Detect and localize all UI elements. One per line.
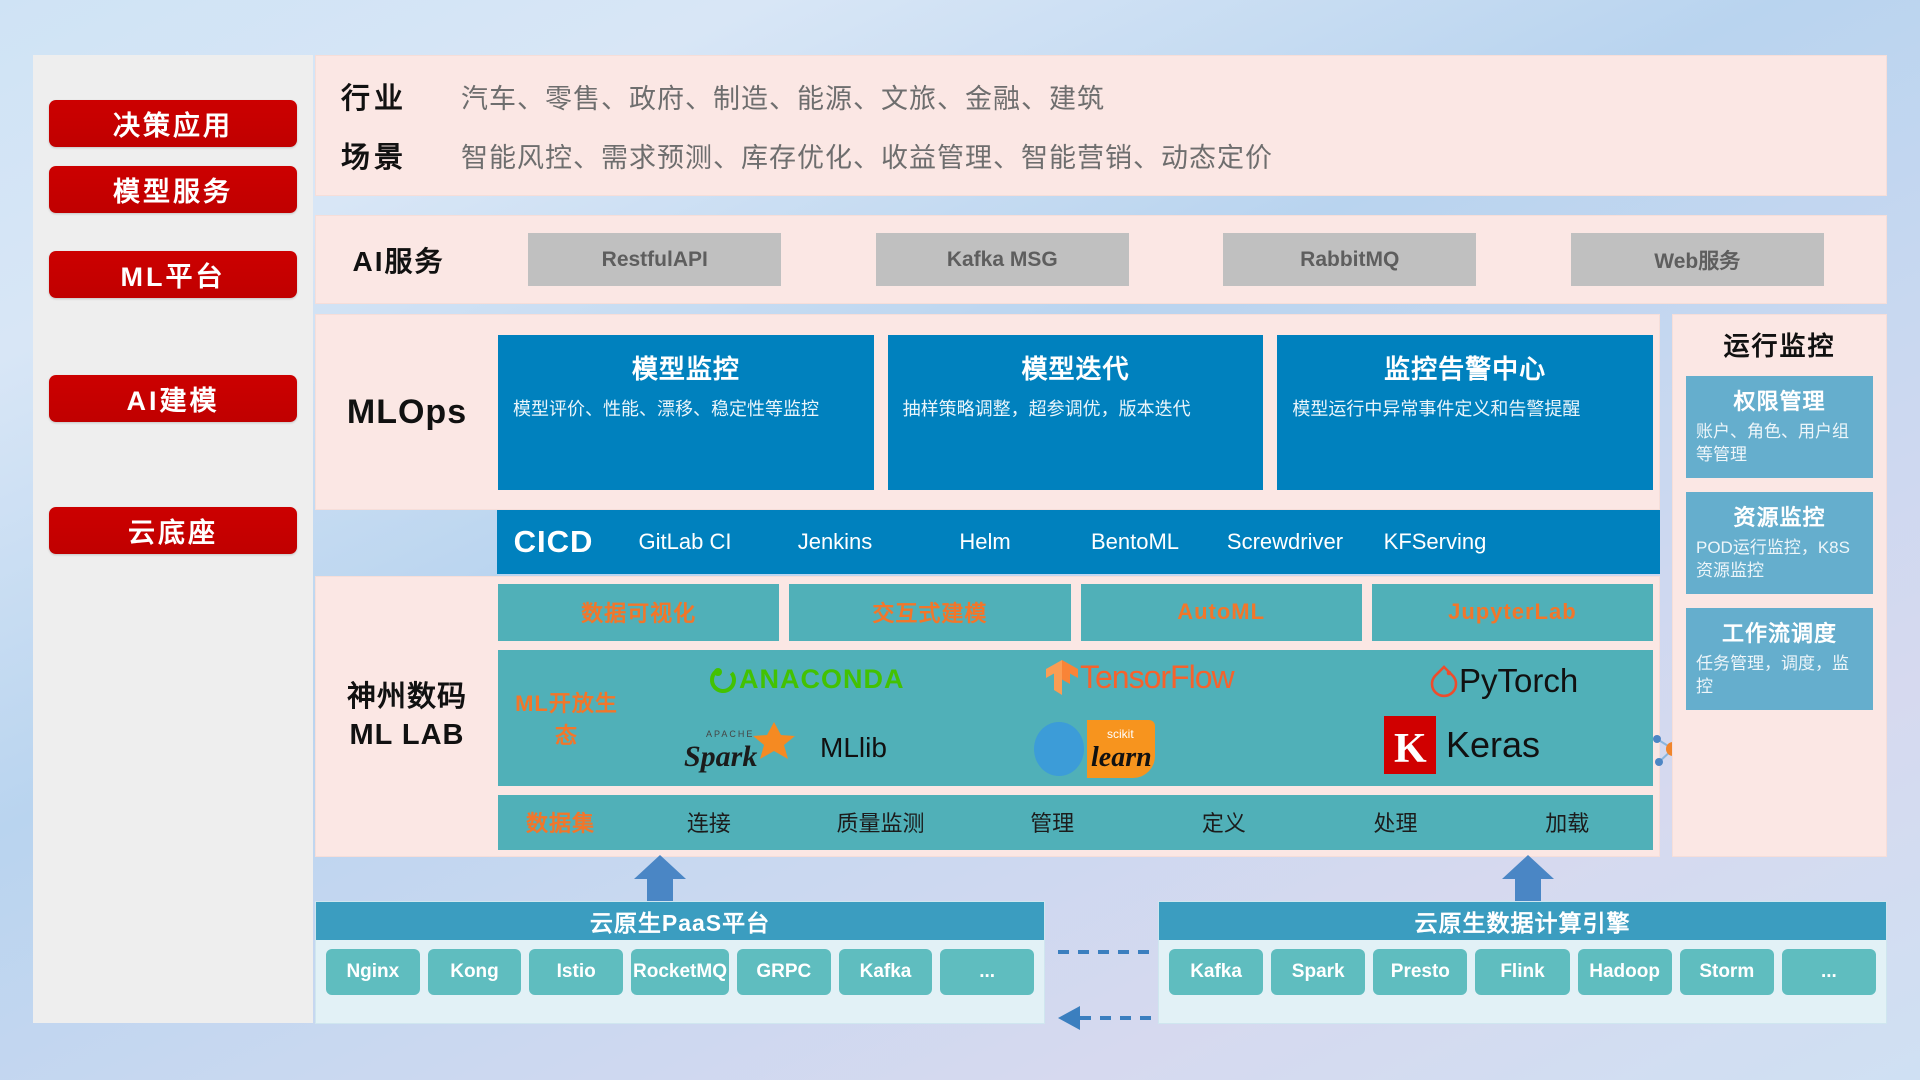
dataset-item-define[interactable]: 定义 — [1138, 806, 1310, 838]
compute-engine-title: 云原生数据计算引擎 — [1159, 902, 1886, 940]
dataset-item-process[interactable]: 处理 — [1310, 806, 1482, 838]
ml-ecosystem-logos: ANACONDA TensorFlow — [629, 650, 1647, 786]
industry-label-column: 行业 场景 — [341, 67, 461, 185]
industry-label: 行业 — [341, 67, 461, 126]
keras-icon: K — [1384, 716, 1436, 774]
dataset-item-quality-monitor[interactable]: 质量监测 — [795, 806, 967, 838]
dataset-item-load[interactable]: 加载 — [1481, 806, 1653, 838]
ai-service-chip-rabbitmq[interactable]: RabbitMQ — [1223, 233, 1476, 286]
monitoring-card-permission[interactable]: 权限管理 账户、角色、用户组等管理 — [1686, 376, 1873, 478]
compute-chip-spark[interactable]: Spark — [1271, 949, 1365, 995]
sidebar-item-ml-platform[interactable]: ML平台 — [49, 251, 297, 298]
ai-service-items: RestfulAPI Kafka MSG RabbitMQ Web服务 — [481, 233, 1886, 286]
paas-platform-title: 云原生PaaS平台 — [316, 902, 1044, 940]
ml-lab-title-line2: ML LAB — [316, 717, 498, 755]
runtime-monitoring-title: 运行监控 — [1686, 326, 1873, 363]
industry-values: 汽车、零售、政府、制造、能源、文旅、金融、建筑 — [461, 67, 1886, 126]
tensorflow-logo: TensorFlow — [1044, 658, 1234, 698]
ai-service-chip-kafka-msg[interactable]: Kafka MSG — [876, 233, 1129, 286]
sidebar-item-label: 模型服务 — [113, 170, 233, 209]
compute-chip-presto[interactable]: Presto — [1373, 949, 1467, 995]
monitoring-card-workflow[interactable]: 工作流调度 任务管理，调度，监控 — [1686, 608, 1873, 710]
cicd-item-screwdriver[interactable]: Screwdriver — [1210, 530, 1360, 553]
dataset-label: 数据集 — [498, 806, 623, 838]
mlops-card-title: 模型监控 — [513, 349, 859, 386]
sidebar-item-label: 云底座 — [128, 511, 218, 550]
paas-chip-grpc[interactable]: GRPC — [737, 949, 831, 995]
ml-ecosystem-row: ML开放生态 ANACONDA — [498, 650, 1653, 786]
ml-lab-body: 数据可视化 交互式建模 AutoML JupyterLab ML开放生态 ANA… — [498, 584, 1659, 850]
mlops-card-title: 模型迭代 — [903, 349, 1249, 386]
dataset-item-manage[interactable]: 管理 — [966, 806, 1138, 838]
sidebar-item-ai-modeling[interactable]: AI建模 — [49, 375, 297, 422]
tensorflow-icon — [1044, 658, 1080, 698]
mlops-title: MLOps — [316, 393, 498, 432]
monitoring-card-desc: 账户、角色、用户组等管理 — [1696, 421, 1863, 467]
anaconda-icon — [707, 664, 739, 696]
mlops-panel: MLOps 模型监控 模型评价、性能、漂移、稳定性等监控 模型迭代 抽样策略调整… — [315, 314, 1660, 510]
compute-engine-panel: 云原生数据计算引擎 Kafka Spark Presto Flink Hadoo… — [1158, 901, 1887, 1024]
sidebar-item-cloud-base[interactable]: 云底座 — [49, 507, 297, 554]
paas-platform-panel: 云原生PaaS平台 Nginx Kong Istio RocketMQ GRPC… — [315, 901, 1045, 1024]
monitoring-card-title: 权限管理 — [1696, 384, 1863, 416]
paas-chip-more[interactable]: ... — [940, 949, 1034, 995]
ai-service-title: AI服务 — [316, 240, 481, 280]
monitoring-card-title: 工作流调度 — [1696, 616, 1863, 648]
scikit-learn-icon: scikit learn — [1029, 716, 1189, 778]
cicd-item-gitlab-ci[interactable]: GitLab CI — [610, 530, 760, 553]
monitoring-card-title: 资源监控 — [1696, 500, 1863, 532]
industry-scenario-panel: 行业 场景 汽车、零售、政府、制造、能源、文旅、金融、建筑 智能风控、需求预测、… — [315, 55, 1887, 196]
tool-chip-data-visualization[interactable]: 数据可视化 — [498, 584, 779, 641]
cicd-item-kfserving[interactable]: KFServing — [1360, 530, 1510, 553]
sidebar-item-model-service[interactable]: 模型服务 — [49, 166, 297, 213]
compute-chip-more[interactable]: ... — [1782, 949, 1876, 995]
compute-chip-storm[interactable]: Storm — [1680, 949, 1774, 995]
mllib-label: MLlib — [820, 732, 887, 764]
mlops-card-list: 模型监控 模型评价、性能、漂移、稳定性等监控 模型迭代 抽样策略调整，超参调优，… — [498, 335, 1659, 490]
tensorflow-label: TensorFlow — [1080, 659, 1234, 696]
anaconda-logo: ANACONDA — [707, 664, 905, 696]
mlops-card-model-iteration[interactable]: 模型迭代 抽样策略调整，超参调优，版本迭代 — [888, 335, 1264, 490]
svg-text:learn: learn — [1091, 742, 1152, 773]
svg-text:Spark: Spark — [684, 740, 757, 773]
keras-logo: K Keras — [1384, 716, 1540, 774]
compute-chip-kafka[interactable]: Kafka — [1169, 949, 1263, 995]
scikit-learn-logo: scikit learn — [1029, 716, 1189, 778]
dataset-item-connect[interactable]: 连接 — [623, 806, 795, 838]
ml-lab-title: 神州数码 ML LAB — [316, 679, 498, 754]
cicd-item-jenkins[interactable]: Jenkins — [760, 530, 910, 553]
compute-chip-row: Kafka Spark Presto Flink Hadoop Storm ..… — [1159, 940, 1886, 1004]
cicd-item-bentoml[interactable]: BentoML — [1060, 530, 1210, 553]
tool-chip-interactive-modeling[interactable]: 交互式建模 — [789, 584, 1070, 641]
ml-ecosystem-label: ML开放生态 — [504, 686, 629, 750]
paas-chip-rocketmq[interactable]: RocketMQ — [631, 949, 729, 995]
tool-chip-automl[interactable]: AutoML — [1081, 584, 1362, 641]
cicd-label: CICD — [497, 524, 610, 560]
sidebar-item-label: ML平台 — [121, 255, 226, 294]
mlops-card-title: 监控告警中心 — [1292, 349, 1638, 386]
industry-value-column: 汽车、零售、政府、制造、能源、文旅、金融、建筑 智能风控、需求预测、库存优化、收… — [461, 67, 1886, 185]
paas-chip-kafka[interactable]: Kafka — [839, 949, 933, 995]
mlops-card-desc: 抽样策略调整，超参调优，版本迭代 — [903, 396, 1249, 422]
ai-service-chip-web-service[interactable]: Web服务 — [1571, 233, 1824, 286]
cicd-strip: CICD GitLab CI Jenkins Helm BentoML Scre… — [497, 510, 1660, 574]
svg-text:APACHE: APACHE — [706, 729, 754, 739]
monitoring-card-resource[interactable]: 资源监控 POD运行监控，K8S资源监控 — [1686, 492, 1873, 594]
sidebar-item-decision-app[interactable]: 决策应用 — [49, 100, 297, 147]
sidebar-item-label: AI建模 — [127, 379, 220, 418]
stack-layer-sidebar: 决策应用 模型服务 ML平台 AI建模 云底座 — [33, 55, 313, 1023]
tool-chip-jupyterlab[interactable]: JupyterLab — [1372, 584, 1653, 641]
mlops-card-alert-center[interactable]: 监控告警中心 模型运行中异常事件定义和告警提醒 — [1277, 335, 1653, 490]
arrow-up-compute-icon — [1500, 853, 1556, 901]
spark-icon: APACHE Spark — [684, 722, 816, 774]
mlops-card-desc: 模型评价、性能、漂移、稳定性等监控 — [513, 396, 859, 422]
runtime-monitoring-panel: 运行监控 权限管理 账户、角色、用户组等管理 资源监控 POD运行监控，K8S资… — [1672, 314, 1887, 857]
monitoring-card-desc: POD运行监控，K8S资源监控 — [1696, 537, 1863, 583]
mlops-card-desc: 模型运行中异常事件定义和告警提醒 — [1292, 396, 1638, 422]
paas-chip-istio[interactable]: Istio — [529, 949, 623, 995]
compute-chip-hadoop[interactable]: Hadoop — [1578, 949, 1672, 995]
dataset-row: 数据集 连接 质量监测 管理 定义 处理 加载 — [498, 795, 1653, 850]
ml-lab-panel: 神州数码 ML LAB 数据可视化 交互式建模 AutoML JupyterLa… — [315, 576, 1660, 857]
paas-chip-nginx[interactable]: Nginx — [326, 949, 420, 995]
ai-service-chip-restfulapi[interactable]: RestfulAPI — [528, 233, 781, 286]
spark-mllib-logo: APACHE Spark MLlib — [684, 722, 887, 774]
ml-lab-title-line1: 神州数码 — [316, 679, 498, 717]
anaconda-label: ANACONDA — [739, 664, 905, 695]
compute-chip-flink[interactable]: Flink — [1475, 949, 1569, 995]
paas-chip-kong[interactable]: Kong — [428, 949, 522, 995]
sidebar-item-label: 决策应用 — [113, 104, 233, 143]
svg-text:K: K — [1394, 726, 1427, 772]
paas-chip-row: Nginx Kong Istio RocketMQ GRPC Kafka ... — [316, 940, 1044, 1004]
arrow-up-paas-icon — [632, 853, 688, 901]
scenario-values: 智能风控、需求预测、库存优化、收益管理、智能营销、动态定价 — [461, 126, 1886, 185]
keras-label: Keras — [1446, 724, 1540, 766]
pytorch-logo: PyTorch — [1429, 662, 1578, 700]
pytorch-icon — [1429, 664, 1459, 698]
svg-text:scikit: scikit — [1107, 727, 1134, 741]
pytorch-label: PyTorch — [1459, 662, 1578, 700]
ml-lab-tool-row: 数据可视化 交互式建模 AutoML JupyterLab — [498, 584, 1653, 641]
ai-service-panel: AI服务 RestfulAPI Kafka MSG RabbitMQ Web服务 — [315, 215, 1887, 304]
monitoring-card-desc: 任务管理，调度，监控 — [1696, 653, 1863, 699]
scenario-label: 场景 — [341, 126, 461, 185]
cicd-item-helm[interactable]: Helm — [910, 530, 1060, 553]
mlops-card-model-monitoring[interactable]: 模型监控 模型评价、性能、漂移、稳定性等监控 — [498, 335, 874, 490]
